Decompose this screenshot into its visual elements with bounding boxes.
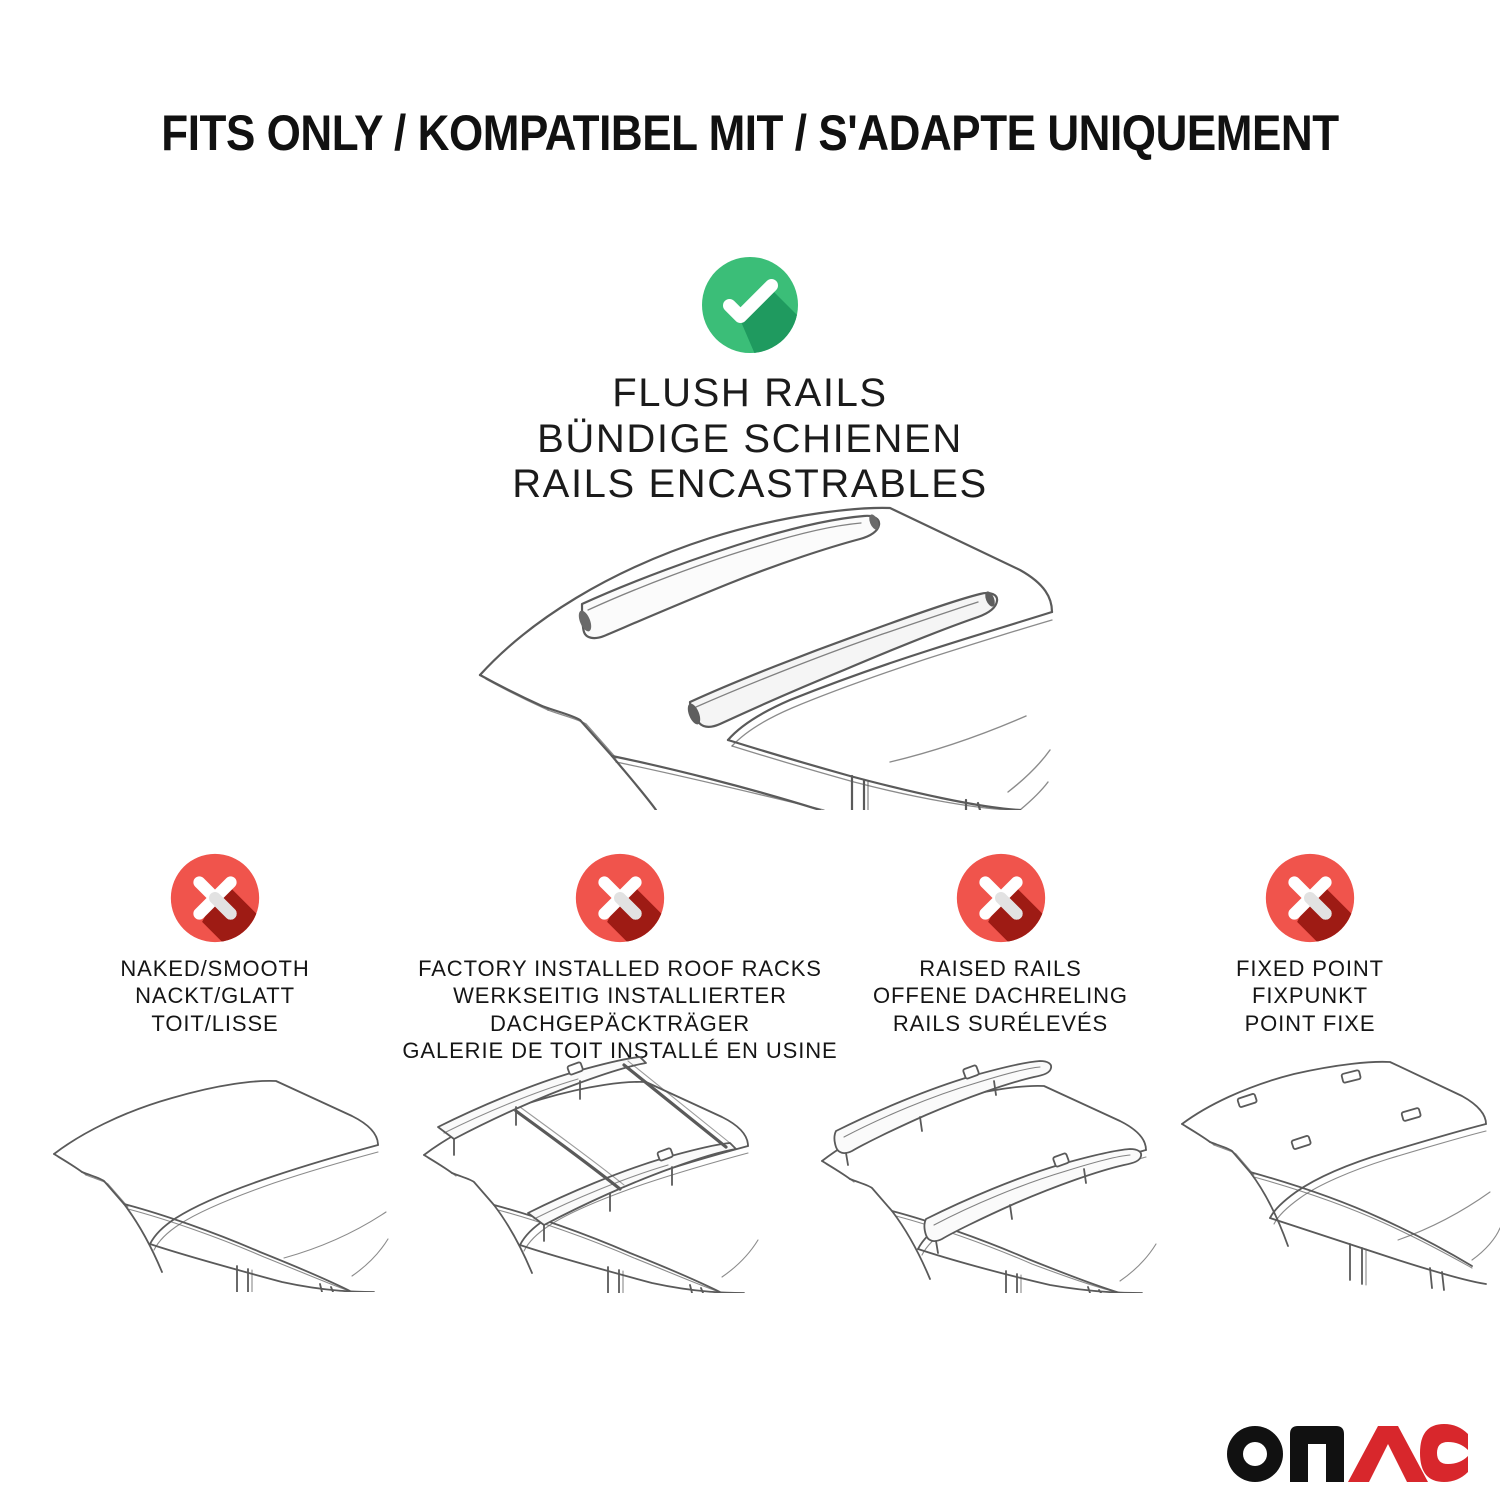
red-cross-icon [574, 852, 666, 944]
red-cross-icon [955, 852, 1047, 944]
car-roof-naked-smooth-illustration [52, 1062, 402, 1292]
incompatible-option-naked-smooth: NAKED/SMOOTH NACKT/GLATT TOIT/LISSE [35, 852, 395, 1037]
omac-logo [1222, 1412, 1470, 1484]
option-caption-line-1: NAKED/SMOOTH [35, 955, 395, 982]
compatible-caption: FLUSH RAILS BÜNDIGE SCHIENEN RAILS ENCAS… [0, 371, 1500, 508]
option-caption-line-2: NACKT/GLATT [35, 982, 395, 1009]
page-title: FITS ONLY / KOMPATIBEL MIT / S'ADAPTE UN… [90, 104, 1410, 162]
option-caption: RAISED RAILS OFFENE DACHRELING RAILS SUR… [828, 955, 1173, 1037]
option-caption: NAKED/SMOOTH NACKT/GLATT TOIT/LISSE [35, 955, 395, 1037]
option-caption: FIXED POINT FIXPUNKT POINT FIXE [1160, 955, 1460, 1037]
red-cross-icon [1264, 852, 1356, 944]
option-caption-line-3: POINT FIXE [1160, 1010, 1460, 1037]
green-check-icon [700, 255, 800, 355]
option-caption-line-3: DACHGEPÄCKTRÄGER [383, 1010, 857, 1037]
option-caption-line-1: FACTORY INSTALLED ROOF RACKS [383, 955, 857, 982]
incompatible-option-raised-rails: RAISED RAILS OFFENE DACHRELING RAILS SUR… [828, 852, 1173, 1037]
car-roof-flush-rails-illustration [460, 500, 1060, 810]
car-roof-fixed-point-illustration [1180, 1060, 1500, 1292]
compatible-section: FLUSH RAILS BÜNDIGE SCHIENEN RAILS ENCAS… [0, 255, 1500, 508]
option-caption: FACTORY INSTALLED ROOF RACKS WERKSEITIG … [383, 955, 857, 1064]
incompatible-option-fixed-point: FIXED POINT FIXPUNKT POINT FIXE [1160, 852, 1460, 1037]
option-caption-line-1: RAISED RAILS [828, 955, 1173, 982]
incompatible-option-factory-roof-racks: FACTORY INSTALLED ROOF RACKS WERKSEITIG … [383, 852, 857, 1064]
option-caption-line-3: TOIT/LISSE [35, 1010, 395, 1037]
option-caption-line-2: WERKSEITIG INSTALLIERTER [383, 982, 857, 1009]
fitment-infographic: FITS ONLY / KOMPATIBEL MIT / S'ADAPTE UN… [0, 0, 1500, 1500]
compatible-caption-line-1: FLUSH RAILS [0, 371, 1500, 417]
compatible-caption-line-2: BÜNDIGE SCHIENEN [0, 417, 1500, 463]
option-caption-line-2: FIXPUNKT [1160, 982, 1460, 1009]
red-cross-icon [169, 852, 261, 944]
car-roof-factory-roof-racks-illustration [420, 1055, 790, 1293]
option-caption-line-2: OFFENE DACHRELING [828, 982, 1173, 1009]
option-caption-line-3: RAILS SURÉLEVÉS [828, 1010, 1173, 1037]
car-roof-raised-rails-illustration [818, 1055, 1188, 1293]
incompatible-options-row: NAKED/SMOOTH NACKT/GLATT TOIT/LISSE [0, 852, 1500, 1052]
option-caption-line-1: FIXED POINT [1160, 955, 1460, 982]
